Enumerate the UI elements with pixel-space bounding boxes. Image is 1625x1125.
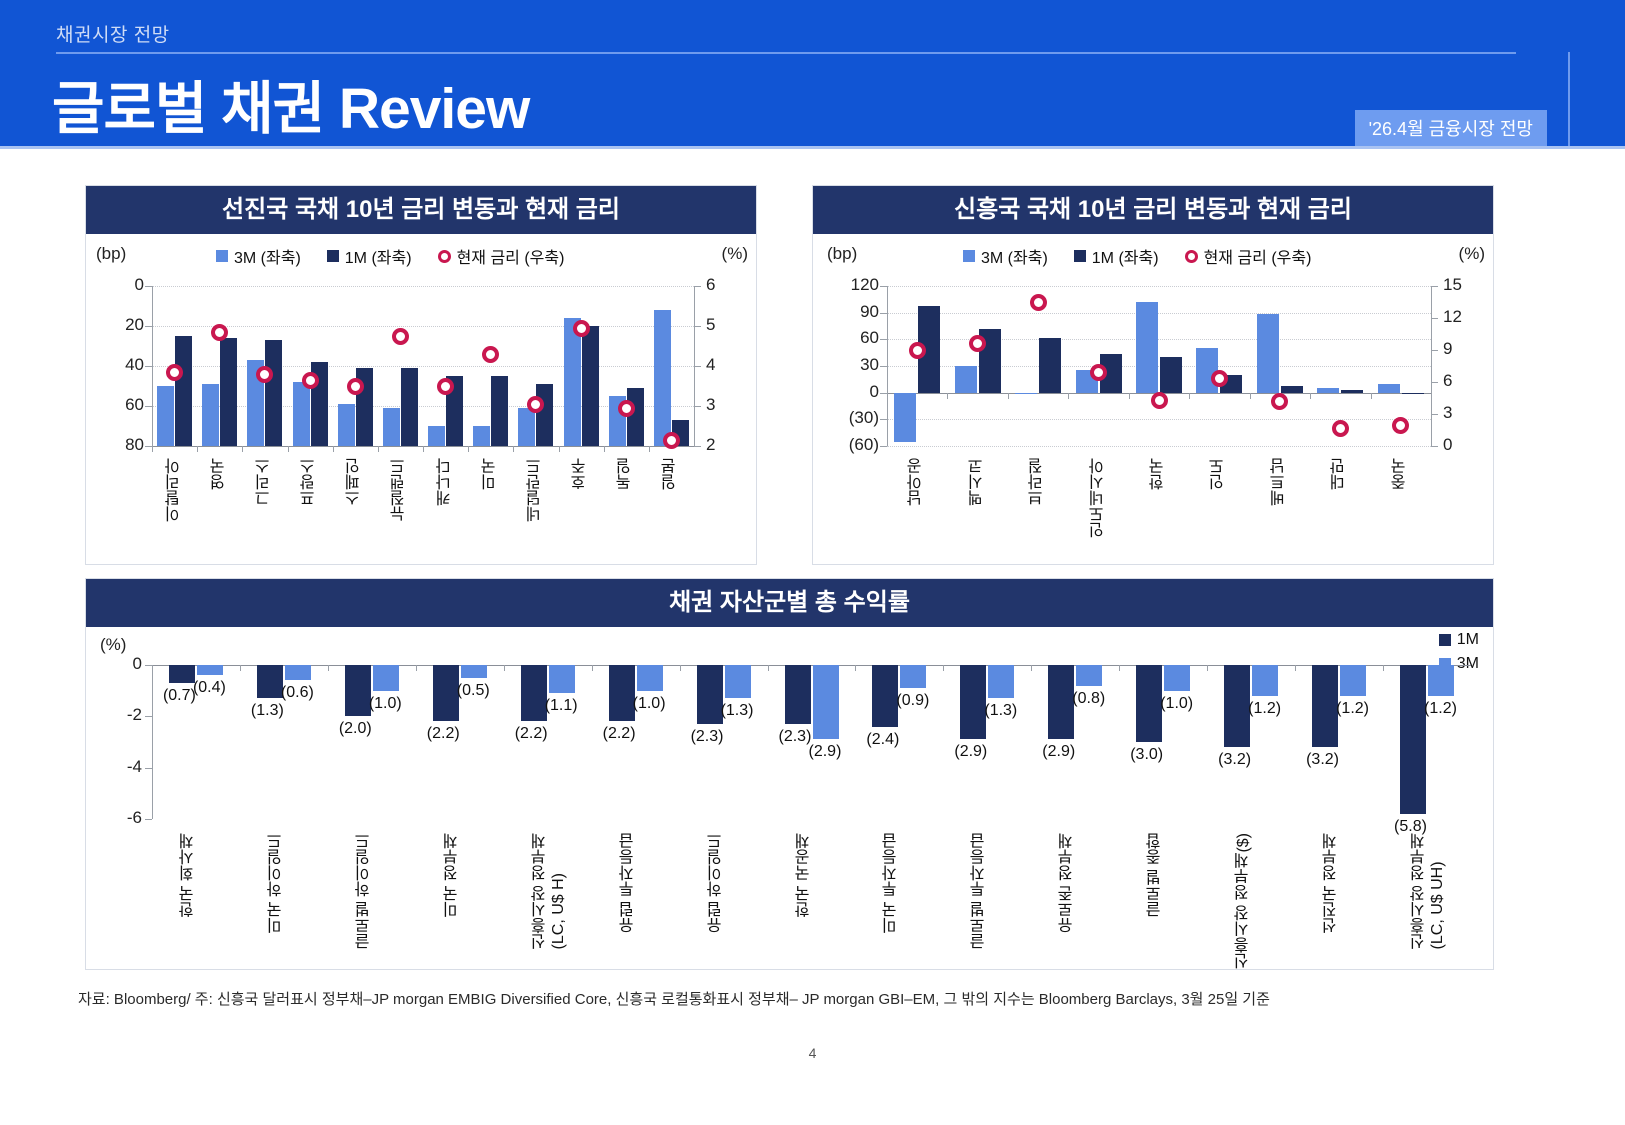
x-tick-mark bbox=[1068, 393, 1069, 399]
data-label-1m: (3.0) bbox=[1130, 746, 1163, 764]
data-label-1m: (2.2) bbox=[427, 725, 460, 743]
y-axis-unit-returns: (%) bbox=[100, 635, 126, 655]
x-axis-label: 유럽 하이일드 bbox=[708, 833, 726, 933]
chart-panel-total-returns: 채권 자산군별 총 수익률 (%) 1M 3M 0-2-4-6(0.7)(0.4… bbox=[85, 578, 1494, 970]
bar-3m bbox=[202, 384, 219, 446]
current-rate-marker bbox=[1392, 417, 1409, 434]
data-label-3m: (1.0) bbox=[633, 695, 666, 713]
y2-tick-label: 5 bbox=[706, 315, 715, 335]
data-label-1m: (0.7) bbox=[163, 687, 196, 705]
bar-3m bbox=[293, 382, 310, 446]
y-tick-mark bbox=[145, 768, 152, 769]
legend-item-1m-ret: 1M bbox=[1439, 631, 1479, 649]
bar-1m bbox=[345, 665, 371, 716]
y2-tick-label: 6 bbox=[706, 275, 715, 295]
legend-label-3m-em: 3M (좌축) bbox=[981, 244, 1048, 268]
y-tick-mark bbox=[880, 339, 887, 340]
gridline bbox=[887, 313, 1431, 314]
x-tick-mark bbox=[1295, 665, 1296, 671]
y-tick-label: 80 bbox=[90, 435, 144, 455]
bar-1m bbox=[265, 340, 282, 446]
y2-tick-label: 4 bbox=[706, 355, 715, 375]
data-label-3m: (1.3) bbox=[721, 702, 754, 720]
x-tick-mark bbox=[947, 393, 948, 399]
x-tick-mark bbox=[768, 665, 769, 671]
x-tick-mark bbox=[242, 446, 243, 452]
bar-3m bbox=[988, 665, 1014, 698]
bar-1m bbox=[627, 388, 644, 446]
y2-tick-label: 9 bbox=[1443, 339, 1452, 359]
header-kicker: 채권시장 전망 bbox=[56, 20, 170, 47]
y-tick-mark bbox=[145, 819, 152, 820]
y-axis-unit-right-dm: (%) bbox=[722, 244, 748, 264]
chart-title-developed: 선진국 국채 10년 금리 변동과 현재 금리 bbox=[86, 186, 756, 234]
y-tick-label: (30) bbox=[825, 408, 879, 428]
x-tick-mark bbox=[288, 446, 289, 452]
x-axis-label: 선진국 정부채 bbox=[1323, 833, 1341, 933]
x-tick-mark bbox=[1008, 393, 1009, 399]
x-axis-label: 인도네시아 bbox=[1090, 458, 1108, 538]
current-rate-marker bbox=[573, 320, 590, 337]
header-vertical-divider bbox=[1568, 52, 1570, 146]
bar-3m bbox=[955, 366, 977, 393]
y2-axis-line bbox=[694, 286, 695, 446]
y2-tick-label: 6 bbox=[1443, 371, 1452, 391]
legend-item-3m-dm: 3M (좌축) bbox=[216, 244, 301, 268]
current-rate-marker bbox=[527, 396, 544, 413]
y-tick-label: 20 bbox=[90, 315, 144, 335]
x-axis-label: 베트남 bbox=[1271, 458, 1289, 506]
y2-tick-mark bbox=[1431, 318, 1438, 319]
y-tick-label: 120 bbox=[825, 275, 879, 295]
y-tick-label: 0 bbox=[94, 654, 142, 674]
data-label-1m: (2.9) bbox=[1042, 743, 1075, 761]
y2-tick-mark bbox=[1431, 286, 1438, 287]
data-label-3m: (0.4) bbox=[193, 679, 226, 697]
bar-3m bbox=[461, 665, 487, 678]
y2-tick-label: 3 bbox=[706, 395, 715, 415]
y-axis-unit-left-dm: (bp) bbox=[96, 244, 126, 264]
x-axis-label: 호주 bbox=[572, 458, 590, 490]
bar-1m bbox=[1136, 665, 1162, 742]
x-axis-label: 미국 정부채 bbox=[444, 833, 462, 917]
x-axis-label: 미국 투자등급 bbox=[883, 833, 901, 933]
bar-3m bbox=[1378, 384, 1400, 393]
chart-canvas-developed: (bp) (%) 3M (좌축) 1M (좌축) 현재 금리 (우축) 0204… bbox=[86, 234, 756, 564]
y-axis-unit-left-em: (bp) bbox=[827, 244, 857, 264]
y-tick-label: 0 bbox=[825, 382, 879, 402]
bar-1m bbox=[872, 665, 898, 727]
bar-1m bbox=[401, 368, 418, 446]
bar-1m bbox=[169, 665, 195, 683]
data-label-3m: (2.9) bbox=[809, 743, 842, 761]
bar-3m bbox=[383, 408, 400, 446]
x-axis-label: 네덜란드 bbox=[527, 458, 545, 522]
x-axis-label: 뉴질랜드 bbox=[391, 458, 409, 522]
data-label-3m: (1.3) bbox=[984, 702, 1017, 720]
data-label-1m: (2.4) bbox=[866, 731, 899, 749]
bar-3m bbox=[1015, 393, 1037, 395]
y2-axis-line bbox=[1431, 286, 1432, 446]
bar-3m bbox=[473, 426, 490, 446]
data-label-1m: (2.9) bbox=[954, 743, 987, 761]
x-tick-mark bbox=[328, 665, 329, 671]
bar-3m bbox=[518, 408, 535, 446]
bar-3m bbox=[373, 665, 399, 691]
y-tick-label: (60) bbox=[825, 435, 879, 455]
page-number: 4 bbox=[0, 1045, 1625, 1061]
x-axis-label: 글로벌 종합 bbox=[1147, 833, 1165, 917]
bar-3m bbox=[1136, 302, 1158, 393]
gridline bbox=[887, 286, 1431, 287]
current-rate-marker bbox=[166, 364, 183, 381]
x-axis-label: 그리스 bbox=[256, 458, 274, 506]
current-rate-marker bbox=[663, 432, 680, 449]
y-tick-mark bbox=[145, 716, 152, 717]
bar-1m bbox=[1048, 665, 1074, 739]
bar-3m bbox=[428, 426, 445, 446]
x-axis-label: 캐나다 bbox=[437, 458, 455, 506]
current-rate-marker-icon bbox=[1185, 250, 1198, 263]
bar-1m bbox=[536, 384, 553, 446]
bar-3m bbox=[1340, 665, 1366, 696]
x-axis-label: 유로존 정부채 bbox=[1059, 833, 1077, 933]
data-label-3m: (1.2) bbox=[1248, 700, 1281, 718]
y-tick-mark bbox=[880, 393, 887, 394]
x-tick-mark bbox=[604, 446, 605, 452]
x-tick-mark bbox=[333, 446, 334, 452]
data-label-1m: (2.0) bbox=[339, 720, 372, 738]
x-axis-label: 한국 국공채 bbox=[796, 833, 814, 917]
bar-3m bbox=[637, 665, 663, 691]
y-tick-mark bbox=[880, 313, 887, 314]
x-axis-label: 한국 회사채 bbox=[180, 833, 198, 917]
legend-em: 3M (좌축) 1M (좌축) 현재 금리 (우축) bbox=[963, 244, 1311, 268]
data-label-1m: (3.2) bbox=[1218, 751, 1251, 769]
current-rate-marker bbox=[1151, 392, 1168, 409]
data-label-1m: (1.3) bbox=[251, 702, 284, 720]
data-label-3m: (1.1) bbox=[545, 697, 578, 715]
bar-1m bbox=[220, 338, 237, 446]
y-tick-label: -2 bbox=[94, 705, 142, 725]
bar-1m bbox=[697, 665, 723, 724]
legend-dm: 3M (좌축) 1M (좌축) 현재 금리 (우축) bbox=[216, 244, 564, 268]
bar-3m bbox=[1164, 665, 1190, 691]
x-tick-mark bbox=[378, 446, 379, 452]
bar-1m bbox=[257, 665, 283, 698]
data-label-3m: (1.2) bbox=[1336, 700, 1369, 718]
chart-title-returns: 채권 자산군별 총 수익률 bbox=[86, 579, 1493, 627]
current-rate-marker bbox=[392, 328, 409, 345]
data-label-3m: (1.2) bbox=[1424, 700, 1457, 718]
y2-tick-label: 3 bbox=[1443, 403, 1452, 423]
y-tick-mark bbox=[145, 665, 152, 666]
current-rate-marker bbox=[909, 342, 926, 359]
x-tick-mark bbox=[649, 446, 650, 452]
y-tick-mark bbox=[145, 446, 152, 447]
y2-tick-label: 15 bbox=[1443, 275, 1462, 295]
bar-1m bbox=[433, 665, 459, 721]
chart-panel-emerging-markets: 신흥국 국채 10년 금리 변동과 현재 금리 (bp) (%) 3M (좌축)… bbox=[812, 185, 1494, 565]
header-bottom-rule bbox=[0, 146, 1625, 149]
x-axis-label: 스페인 bbox=[346, 458, 364, 506]
y2-tick-mark bbox=[694, 446, 701, 447]
data-label-1m: (3.2) bbox=[1306, 751, 1339, 769]
y2-tick-label: 12 bbox=[1443, 307, 1462, 327]
legend-item-current-dm: 현재 금리 (우축) bbox=[438, 244, 565, 268]
x-tick-mark bbox=[152, 446, 153, 452]
current-rate-marker bbox=[1271, 393, 1288, 410]
x-axis-label: 유럽 투자등급 bbox=[620, 833, 638, 933]
bar-3m bbox=[157, 386, 174, 446]
x-axis-label: 남아공 bbox=[908, 458, 926, 506]
y-tick-label: 30 bbox=[825, 355, 879, 375]
y-tick-mark bbox=[145, 406, 152, 407]
data-label-1m: (2.2) bbox=[515, 725, 548, 743]
data-label-3m: (1.0) bbox=[369, 695, 402, 713]
bar-3m bbox=[1428, 665, 1454, 696]
y2-tick-mark bbox=[694, 286, 701, 287]
bar-1m bbox=[1160, 357, 1182, 393]
page-title: 글로벌 채권 Review bbox=[52, 63, 529, 145]
x-tick-mark bbox=[513, 446, 514, 452]
legend-item-1m-em: 1M (좌축) bbox=[1074, 244, 1159, 268]
y-axis-line bbox=[887, 286, 888, 446]
data-label-1m: (2.2) bbox=[603, 725, 636, 743]
data-label-3m: (1.0) bbox=[1160, 695, 1193, 713]
x-tick-mark bbox=[1031, 665, 1032, 671]
current-rate-marker bbox=[256, 366, 273, 383]
gridline bbox=[887, 446, 1431, 447]
y-tick-label: 40 bbox=[90, 355, 144, 375]
x-tick-mark bbox=[240, 665, 241, 671]
current-rate-marker bbox=[1030, 294, 1047, 311]
y2-tick-mark bbox=[1431, 382, 1438, 383]
y-axis-line bbox=[152, 286, 153, 446]
x-axis-label: 멕시코 bbox=[969, 458, 987, 506]
y2-tick-label: 2 bbox=[706, 435, 715, 455]
x-axis-label: 한국 bbox=[1150, 458, 1168, 490]
x-tick-mark bbox=[943, 665, 944, 671]
bar-1m bbox=[521, 665, 547, 721]
x-tick-mark bbox=[197, 446, 198, 452]
x-tick-mark bbox=[887, 393, 888, 399]
y-tick-label: -6 bbox=[94, 808, 142, 828]
bar-3m bbox=[813, 665, 839, 739]
y2-tick-mark bbox=[694, 326, 701, 327]
header-divider bbox=[56, 52, 1516, 54]
x-axis-label: 신흥시장 정부채 (LC, U$ UH) bbox=[1411, 833, 1447, 949]
current-rate-marker bbox=[211, 324, 228, 341]
x-tick-mark bbox=[680, 665, 681, 671]
x-tick-mark bbox=[468, 446, 469, 452]
bar-1m bbox=[1312, 665, 1338, 747]
y-tick-mark bbox=[880, 366, 887, 367]
x-tick-mark bbox=[855, 665, 856, 671]
gridline bbox=[152, 326, 694, 327]
y-tick-label: -4 bbox=[94, 757, 142, 777]
gridline bbox=[152, 286, 694, 287]
x-axis-label: 글로벌 하이일드 bbox=[356, 833, 374, 949]
x-axis-label: 브라질 bbox=[1029, 458, 1047, 506]
current-rate-marker bbox=[437, 378, 454, 395]
bar-3m bbox=[549, 665, 575, 693]
x-tick-mark bbox=[592, 665, 593, 671]
bar-3m bbox=[338, 404, 355, 446]
x-tick-mark bbox=[416, 665, 417, 671]
y2-tick-mark bbox=[1431, 446, 1438, 447]
legend-label-3m-ret: 3M bbox=[1457, 655, 1479, 673]
x-tick-mark bbox=[1250, 393, 1251, 399]
y2-tick-mark bbox=[1431, 414, 1438, 415]
y-tick-label: 60 bbox=[825, 328, 879, 348]
bar-3m bbox=[1076, 665, 1102, 686]
y-tick-label: 90 bbox=[825, 302, 879, 322]
x-axis-label: 인도 bbox=[1210, 458, 1228, 490]
legend-label-current-em: 현재 금리 (우축) bbox=[1204, 244, 1312, 268]
current-rate-marker-icon bbox=[438, 250, 451, 263]
x-axis-label: 이탈리아 bbox=[166, 458, 184, 522]
bar-1m bbox=[1224, 665, 1250, 747]
chart-canvas-emerging: (bp) (%) 3M (좌축) 1M (좌축) 현재 금리 (우축) 1209… bbox=[813, 234, 1493, 564]
current-rate-marker bbox=[1332, 420, 1349, 437]
chart-canvas-returns: (%) 1M 3M 0-2-4-6(0.7)(0.4)한국 회사채(1.3)(0… bbox=[86, 627, 1493, 969]
chart-title-emerging: 신흥국 국채 10년 금리 변동과 현재 금리 bbox=[813, 186, 1493, 234]
data-label-3m: (0.6) bbox=[281, 684, 314, 702]
x-axis-label: 미국 하이일드 bbox=[268, 833, 286, 933]
bar-3m bbox=[197, 665, 223, 675]
legend-item-current-em: 현재 금리 (우축) bbox=[1185, 244, 1312, 268]
legend-label-1m-dm: 1M (좌축) bbox=[345, 244, 412, 268]
bar-1m bbox=[175, 336, 192, 446]
data-label-3m: (0.8) bbox=[1072, 690, 1105, 708]
bar-3m bbox=[285, 665, 311, 680]
y-tick-mark bbox=[145, 326, 152, 327]
bar-1m bbox=[609, 665, 635, 721]
x-axis-label: 신흥시장 정부채 (LC, U$ H) bbox=[532, 833, 568, 949]
bar-1m bbox=[960, 665, 986, 739]
x-tick-mark bbox=[1207, 665, 1208, 671]
x-axis-label: 프랑스 bbox=[301, 458, 319, 506]
legend-label-current-dm: 현재 금리 (우축) bbox=[457, 244, 565, 268]
x-axis-label: 독일 bbox=[617, 458, 635, 490]
data-label-3m: (0.9) bbox=[896, 692, 929, 710]
x-tick-mark bbox=[504, 665, 505, 671]
x-axis-label: 글로벌 투자등급 bbox=[971, 833, 989, 949]
x-axis-label: 미국 bbox=[482, 458, 500, 490]
bar-1m bbox=[1402, 393, 1424, 395]
legend-item-3m-em: 3M (좌축) bbox=[963, 244, 1048, 268]
y-tick-mark bbox=[880, 419, 887, 420]
x-axis-label: 대만 bbox=[1331, 458, 1349, 490]
bar-3m bbox=[564, 318, 581, 446]
bar-3m bbox=[894, 393, 916, 443]
chart-panel-developed-markets: 선진국 국채 10년 금리 변동과 현재 금리 (bp) (%) 3M (좌축)… bbox=[85, 185, 757, 565]
y-tick-mark bbox=[145, 286, 152, 287]
legend-item-1m-dm: 1M (좌축) bbox=[327, 244, 412, 268]
x-axis-label: 중국 bbox=[1392, 458, 1410, 490]
bar-3m bbox=[725, 665, 751, 698]
x-tick-mark bbox=[559, 446, 560, 452]
current-rate-marker bbox=[347, 378, 364, 395]
current-rate-marker bbox=[302, 372, 319, 389]
x-tick-mark bbox=[1371, 393, 1372, 399]
current-rate-marker bbox=[482, 346, 499, 363]
status-badge: '26.4월 금융시장 전망 bbox=[1355, 110, 1547, 148]
y2-tick-mark bbox=[694, 406, 701, 407]
bar-3m bbox=[900, 665, 926, 688]
y-tick-label: 0 bbox=[90, 275, 144, 295]
y-tick-mark bbox=[880, 446, 887, 447]
y-tick-label: 60 bbox=[90, 395, 144, 415]
source-footnote: 자료: Bloomberg/ 주: 신흥국 달러표시 정부채–JP morgan… bbox=[78, 990, 1528, 1010]
x-tick-mark bbox=[1119, 665, 1120, 671]
x-axis-label: 신흥시장 정부채($) bbox=[1235, 833, 1253, 969]
bar-3m bbox=[1257, 314, 1279, 392]
x-tick-mark bbox=[423, 446, 424, 452]
data-label-1m: (2.3) bbox=[779, 728, 812, 746]
x-tick-mark bbox=[1189, 393, 1190, 399]
legend-label-3m-dm: 3M (좌축) bbox=[234, 244, 301, 268]
slide-header: 채권시장 전망 글로벌 채권 Review '26.4월 금융시장 전망 bbox=[0, 0, 1625, 146]
current-rate-marker bbox=[618, 400, 635, 417]
bar-1m bbox=[582, 326, 599, 446]
bar-3m bbox=[1252, 665, 1278, 696]
y2-tick-label: 0 bbox=[1443, 435, 1452, 455]
y2-tick-mark bbox=[1431, 350, 1438, 351]
y-tick-mark bbox=[880, 286, 887, 287]
x-tick-mark bbox=[1310, 393, 1311, 399]
legend-label-1m-em: 1M (좌축) bbox=[1092, 244, 1159, 268]
y-axis-line bbox=[152, 665, 153, 819]
gridline bbox=[887, 419, 1431, 420]
data-label-3m: (0.5) bbox=[457, 682, 490, 700]
data-label-1m: (2.3) bbox=[691, 728, 724, 746]
y-axis-unit-right-em: (%) bbox=[1459, 244, 1485, 264]
x-axis-label: 일본 bbox=[662, 458, 680, 490]
bar-1m bbox=[1039, 338, 1061, 393]
bar-3m bbox=[1317, 388, 1339, 392]
x-tick-mark bbox=[152, 665, 153, 671]
bar-1m bbox=[1341, 390, 1363, 393]
y2-tick-mark bbox=[694, 366, 701, 367]
bar-1m bbox=[1281, 386, 1303, 392]
x-tick-mark bbox=[1129, 393, 1130, 399]
bar-1m bbox=[785, 665, 811, 724]
legend-label-1m-ret: 1M bbox=[1457, 631, 1479, 649]
current-rate-marker bbox=[1090, 364, 1107, 381]
y-tick-mark bbox=[145, 366, 152, 367]
bar-1m bbox=[491, 376, 508, 446]
bar-1m bbox=[1400, 665, 1426, 814]
x-tick-mark bbox=[1383, 665, 1384, 671]
x-axis-label: 영국 bbox=[211, 458, 229, 490]
bar-3m bbox=[654, 310, 671, 446]
